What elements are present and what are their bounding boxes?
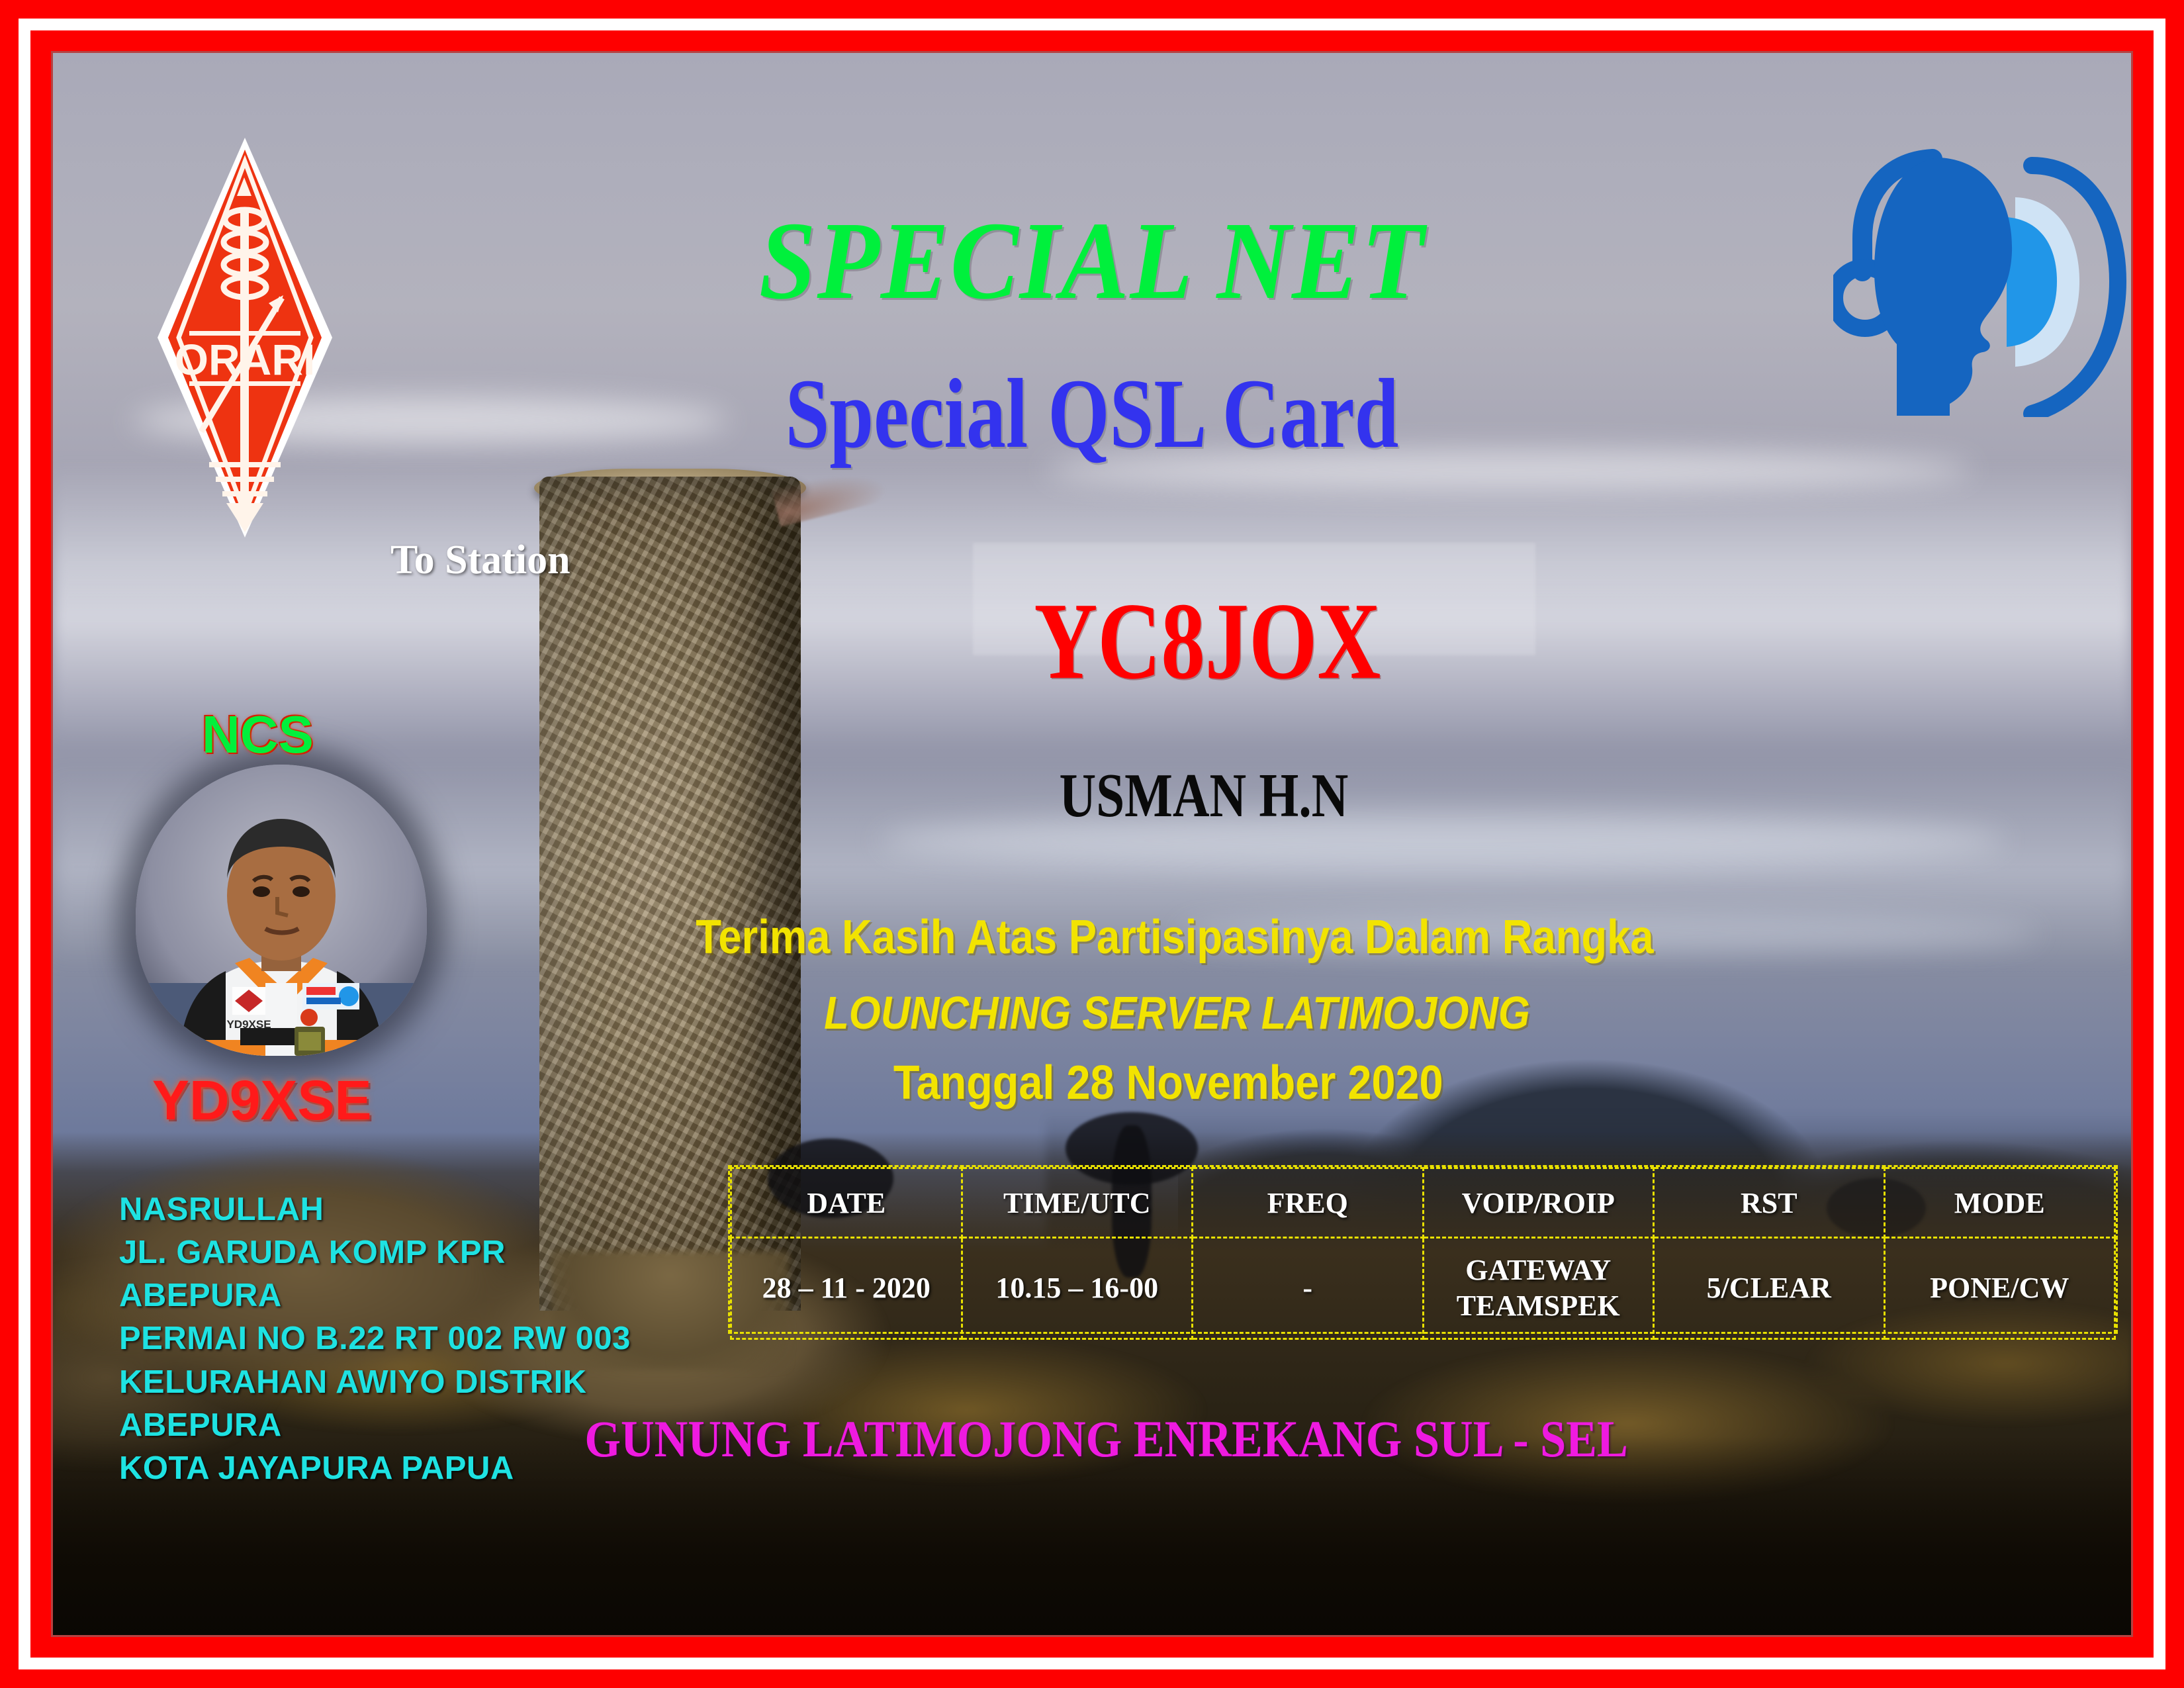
column-header-time: TIME/UTC [962, 1168, 1193, 1238]
table-header-row: DATE TIME/UTC FREQ VOIP/ROIP RST MODE [731, 1168, 2115, 1238]
address-line: KELURAHAN AWIYO DISTRIK [119, 1361, 631, 1404]
page-title: SPECIAL NET [136, 205, 2048, 316]
orari-logo: ORARI [152, 132, 338, 543]
card-subtitle: Special QSL Card [261, 364, 1923, 463]
column-header-date: DATE [731, 1168, 962, 1238]
qso-details-table: DATE TIME/UTC FREQ VOIP/ROIP RST MODE 28… [728, 1165, 2118, 1334]
cell-rst: 5/CLEAR [1654, 1238, 1885, 1339]
thanks-line-1: Terima Kasih Atas Partisipasinya Dalam R… [260, 914, 2089, 961]
cell-date: 28 – 11 - 2020 [731, 1238, 962, 1339]
cell-mode: PONE/CW [1884, 1238, 2115, 1339]
address-line: NASRULLAH [119, 1188, 631, 1231]
address-line: JL. GARUDA KOMP KPR [119, 1231, 631, 1274]
cell-voip-roip: GATEWAY TEAMSPEK [1423, 1238, 1654, 1339]
cell-time: 10.15 – 16-00 [962, 1238, 1193, 1339]
ncs-label: NCS [202, 708, 314, 761]
address-line: ABEPURA [119, 1274, 631, 1317]
column-header-rst: RST [1654, 1168, 1885, 1238]
column-header-mode: MODE [1884, 1168, 2115, 1238]
thanks-line-2: LOUNCHING SERVER LATIMOJONG [263, 990, 2091, 1036]
card-photo-stage: ORARI [53, 53, 2131, 1635]
location-label: GUNUNG LATIMOJONG ENREKANG SUL - SEL [171, 1413, 2042, 1465]
operator-name: USMAN H.N [352, 765, 2056, 827]
to-station-label: To Station [390, 539, 570, 581]
station-callsign: YC8JOX [376, 586, 2038, 696]
cell-freq: - [1193, 1238, 1424, 1339]
column-header-freq: FREQ [1193, 1168, 1424, 1238]
column-header-voip-roip: VOIP/ROIP [1423, 1168, 1654, 1238]
thanks-line-3: Tanggal 28 November 2020 [233, 1059, 2103, 1107]
address-line: PERMAI NO B.22 RT 002 RW 003 [119, 1317, 631, 1360]
orari-diamond-icon: ORARI [152, 132, 338, 543]
qsl-card: ORARI [0, 0, 2184, 1688]
table-row: 28 – 11 - 2020 10.15 – 16-00 - GATEWAY T… [731, 1238, 2115, 1339]
